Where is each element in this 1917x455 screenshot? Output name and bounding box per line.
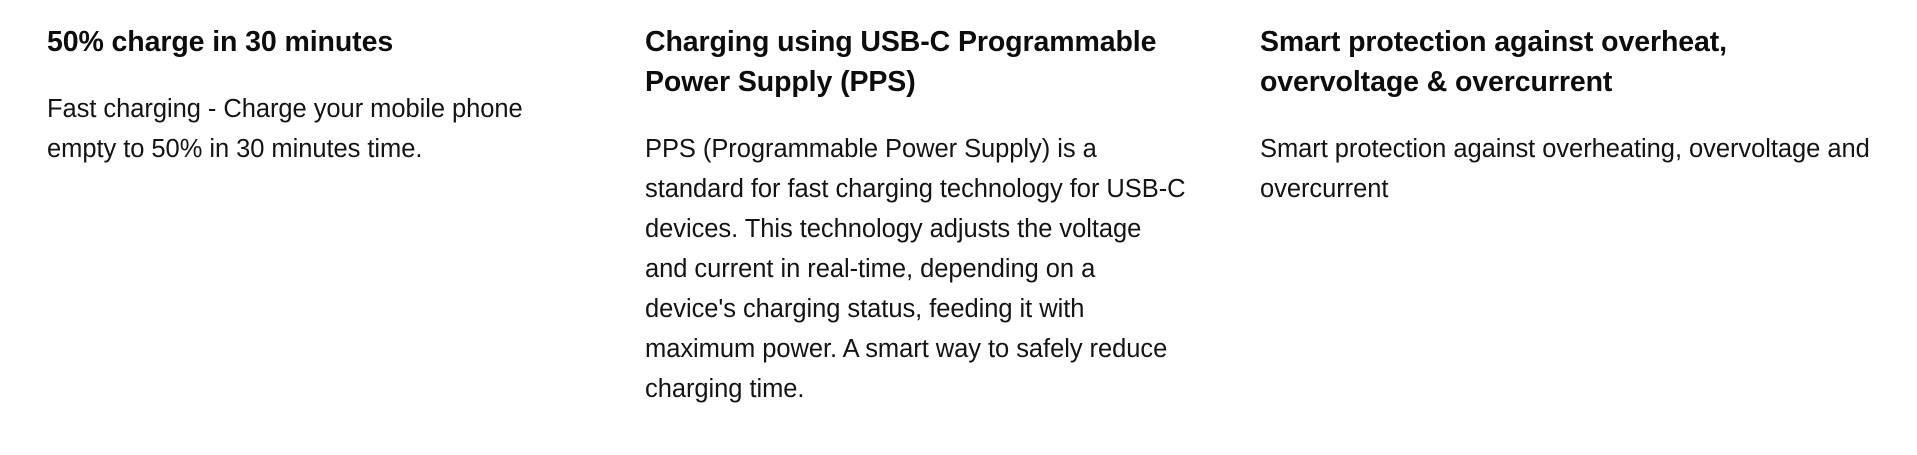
feature-column-smart-protection: Smart protection against overheat, overv…	[1230, 22, 1917, 209]
feature-body-fast-charge: Fast charging - Charge your mobile phone…	[47, 89, 577, 169]
feature-title-smart-protection: Smart protection against overheat, overv…	[1260, 22, 1877, 102]
feature-body-usb-c-pps: PPS (Programmable Power Supply) is a sta…	[645, 129, 1190, 409]
feature-title-usb-c-pps: Charging using USB-C Programmable Power …	[645, 22, 1190, 102]
feature-body-smart-protection: Smart protection against overheating, ov…	[1260, 129, 1877, 209]
feature-title-fast-charge: 50% charge in 30 minutes	[47, 22, 577, 62]
feature-column-fast-charge: 50% charge in 30 minutes Fast charging -…	[0, 22, 622, 169]
feature-grid: 50% charge in 30 minutes Fast charging -…	[0, 0, 1917, 455]
feature-column-usb-c-pps: Charging using USB-C Programmable Power …	[622, 22, 1230, 409]
